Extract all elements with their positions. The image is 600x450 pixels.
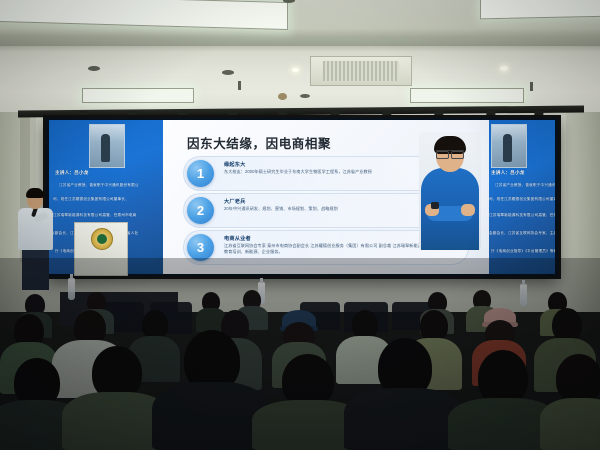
recessed-spotlight: [222, 70, 234, 75]
ceiling-beam: [0, 36, 600, 46]
banner-left-line: 江苏省产业教授、曾就职于中兴通讯股份有限公: [59, 182, 139, 188]
fluorescent-troffer: [0, 0, 288, 30]
lecture-hall-photo: 主讲人：吕小龙 江苏省产业教授、曾就职于中兴通讯股份有限公 司、现任江苏耀德创业…: [0, 0, 600, 450]
audience-member: [344, 338, 464, 450]
banner-right-line: 江苏省产业教授、曾就职于中兴通讯股份有限公: [495, 182, 555, 188]
item-number-badge: 1: [187, 160, 214, 187]
banner-left-line: 司、现任江苏耀德创业集团有限公司董事长、: [53, 196, 129, 202]
banner-right-line: 会副会长、江苏省互联网协会专家、主编江苏省人社: [489, 230, 555, 236]
banner-photo-right: [491, 124, 527, 168]
recessed-spotlight: [300, 94, 310, 98]
presentation-slide: 因东大结缘，因电商相聚 1 缘起东大 东大校友：2000年硕士研究生毕业于东南大…: [163, 120, 489, 274]
recessed-spotlight: [292, 68, 299, 72]
banner-left-line: 江苏瑞翠新能源科技有限公司高管、任泰州市电商: [53, 212, 136, 218]
recessed-spotlight: [88, 66, 100, 71]
ac-grill-icon: [323, 61, 399, 81]
banner-right-line: 司、现任江苏耀德创业集团有限公司董事长、: [489, 196, 555, 202]
item-heading: 缘起东大: [224, 161, 246, 168]
audience-member: [540, 354, 600, 450]
item-number-badge: 2: [187, 197, 214, 224]
ceiling-ac-unit: [310, 56, 412, 86]
sprinkler-head-icon: [530, 82, 533, 91]
item-heading: 大厂老兵: [224, 198, 246, 205]
item-number-badge: 3: [187, 234, 214, 261]
banner-right-title: 主讲人：吕小龙: [491, 170, 525, 176]
banner-right-line: 江苏瑞翠新能源科技有限公司高管、任泰州市电商: [489, 212, 555, 218]
audience: [0, 258, 600, 450]
institution-emblem-icon: [91, 228, 113, 250]
smoke-detector-icon: [278, 93, 287, 100]
recessed-spotlight: [283, 0, 295, 3]
banner-left-title: 主讲人：吕小龙: [55, 170, 89, 176]
banner-right: 主讲人：吕小龙 江苏省产业教授、曾就职于中兴通讯股份有限公 司、现任江苏耀德创业…: [489, 120, 555, 274]
fluorescent-troffer: [82, 88, 194, 103]
banner-right-line: 厅《电商创业指导》《平台管理员》等教材: [491, 248, 555, 254]
fluorescent-troffer: [410, 88, 524, 103]
fluorescent-troffer: [480, 0, 600, 19]
slide-speaker-portrait: [419, 132, 481, 250]
ceiling: [0, 0, 600, 118]
slide-title: 因东大结缘，因电商相聚: [187, 133, 331, 152]
sprinkler-head-icon: [238, 81, 241, 90]
recessed-spotlight: [500, 66, 508, 71]
item-heading: 电商从业者: [224, 235, 251, 242]
banner-photo-left: [89, 124, 125, 168]
